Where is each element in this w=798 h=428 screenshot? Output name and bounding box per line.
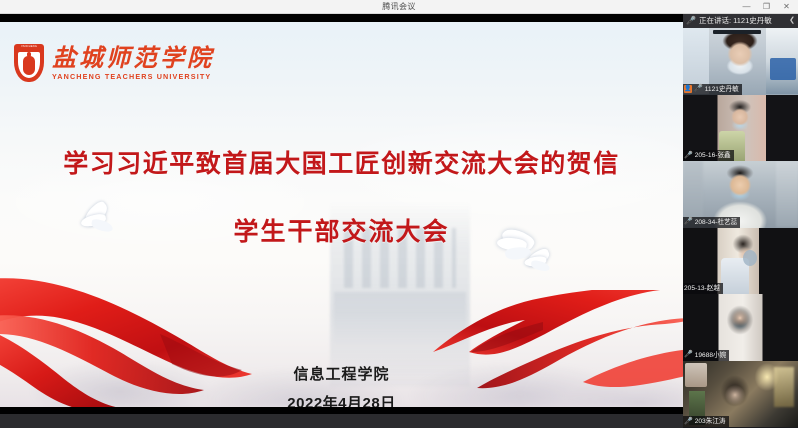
participant-tile[interactable]: 🎤 19688小婉 — [683, 294, 798, 361]
participant-nameplate: 👤 🎤 1121史丹敏 — [683, 84, 742, 95]
participant-name: 1121史丹敏 — [705, 84, 739, 95]
minimize-button[interactable]: — — [742, 0, 751, 14]
presentation-slide: YANCHENG 盐城师范学院 YANCHENG TEACHERS UNIVER… — [0, 22, 683, 407]
mic-muted-icon: 🎤 — [684, 351, 693, 359]
mic-red-icon: 🎤 — [686, 14, 696, 28]
maximize-button[interactable]: ❐ — [762, 0, 771, 14]
participant-rail: 🎤 正在讲话: 1121史丹敏 ❮ 👤 🎤 1121史丹敏 🎤 205 — [683, 14, 798, 428]
window-title: 腾讯会议 — [382, 0, 416, 14]
mic-on-icon: 🎤 — [694, 85, 703, 93]
slide-tree-wash — [0, 287, 683, 407]
participant-name: 205-16-张鑫 — [695, 150, 731, 161]
close-button[interactable]: ✕ — [782, 0, 791, 14]
university-wordmark: 盐城师范学院 YANCHENG TEACHERS UNIVERSITY — [52, 45, 214, 81]
participant-tile[interactable]: 🎤 203朱江涛 — [683, 361, 798, 428]
crest-top-text: YANCHENG — [14, 45, 44, 48]
host-badge-icon: 👤 — [684, 85, 692, 93]
mic-muted-icon: 🎤 — [684, 152, 693, 160]
participant-tile[interactable]: 🎤 205-16-张鑫 — [683, 95, 798, 162]
mic-muted-icon: 🎤 — [684, 218, 693, 226]
participant-name: 205-13-赵越 — [684, 283, 720, 294]
collapse-caret-icon[interactable]: ❮ — [789, 14, 795, 28]
participant-name: 203朱江涛 — [695, 416, 726, 427]
participant-tile[interactable]: 205-13-赵越 — [683, 228, 798, 295]
participant-tile[interactable]: 🎤 208-34-杜艺蕊 — [683, 161, 798, 228]
participant-tiles: 👤 🎤 1121史丹敏 🎤 205-16-张鑫 🎤 208-34-杜艺蕊 — [683, 28, 798, 428]
university-name-cn: 盐城师范学院 — [52, 45, 214, 71]
participant-nameplate: 🎤 203朱江涛 — [683, 416, 729, 427]
participant-name: 208-34-杜艺蕊 — [695, 217, 738, 228]
slide-date: 2022年4月28日 — [0, 392, 683, 407]
university-logo: YANCHENG 盐城师范学院 YANCHENG TEACHERS UNIVER… — [14, 44, 214, 82]
participant-nameplate: 🎤 205-16-张鑫 — [683, 150, 734, 161]
participant-tile[interactable]: 👤 🎤 1121史丹敏 — [683, 28, 798, 95]
active-speaker-label: 正在讲话: 1121史丹敏 — [699, 14, 786, 28]
window-title-bar: 腾讯会议 — ❐ ✕ — [0, 0, 798, 14]
participant-nameplate: 🎤 208-34-杜艺蕊 — [683, 217, 740, 228]
slide-title: 学习习近平致首届大国工匠创新交流大会的贺信 — [0, 144, 683, 180]
mic-muted-icon: 🎤 — [684, 418, 693, 426]
participant-nameplate: 205-13-赵越 — [683, 283, 723, 294]
shared-screen-stage[interactable]: YANCHENG 盐城师范学院 YANCHENG TEACHERS UNIVER… — [0, 14, 683, 414]
tencent-meeting-window: 腾讯会议 — ❐ ✕ YANCHENG 盐城师范学院 YA — [0, 0, 798, 428]
slide-organization: 信息工程学院 — [0, 363, 683, 384]
window-controls: — ❐ ✕ — [742, 0, 796, 14]
participant-name: 19688小婉 — [695, 350, 727, 361]
university-name-en: YANCHENG TEACHERS UNIVERSITY — [52, 72, 214, 81]
participant-nameplate: 🎤 19688小婉 — [683, 350, 729, 361]
university-crest-icon: YANCHENG — [14, 44, 44, 82]
active-speaker-bar[interactable]: 🎤 正在讲话: 1121史丹敏 ❮ — [683, 14, 798, 28]
